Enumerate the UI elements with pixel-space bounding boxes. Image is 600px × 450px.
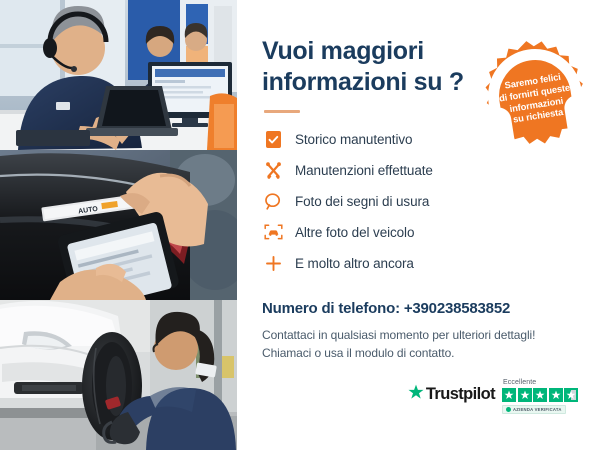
star-filled	[518, 388, 532, 402]
trustpilot-rating: Eccellente	[502, 379, 578, 414]
star-filled	[533, 388, 547, 402]
title-divider	[264, 110, 300, 113]
trustpilot-verified-badge: AZIENDA VERIFICATA	[502, 405, 566, 414]
car-frame-icon	[262, 221, 284, 243]
contact-line-2: Chiamaci o usa il modulo di contatto.	[262, 344, 580, 362]
feature-item-molto-altro: E molto altro ancora	[262, 249, 580, 277]
star-filled	[502, 388, 516, 402]
contact-line-1: Contattaci in qualsiasi momento per ulte…	[262, 326, 580, 344]
feature-label: Foto dei segni di usura	[295, 194, 429, 209]
page-title: Vuoi maggiori informazioni su ?	[262, 36, 477, 97]
trustpilot-stars	[502, 388, 578, 402]
star-half	[564, 388, 578, 402]
trustpilot-rating-label: Eccellente	[503, 379, 536, 386]
feature-label: E molto altro ancora	[295, 256, 414, 271]
contact-description: Contattaci in qualsiasi momento per ulte…	[262, 326, 580, 362]
phone-number[interactable]: Numero di telefono: +390238583852	[262, 300, 580, 317]
badge-content: Saremo felici di fornirti queste informa…	[469, 30, 600, 163]
feature-label: Manutenzioni effettuate	[295, 163, 433, 178]
call-center-agents-photo	[0, 0, 237, 150]
feature-label: Storico manutentivo	[295, 132, 412, 147]
trustpilot-star-icon	[408, 384, 424, 405]
content-panel: Vuoi maggiori informazioni su ? Storico …	[237, 0, 600, 450]
feature-item-altre-foto-veicolo: Altre foto del veicolo	[262, 218, 580, 246]
verified-check-icon	[506, 407, 511, 412]
checklist-icon	[262, 128, 284, 150]
paint-thickness-inspection-photo: AUTO	[0, 150, 237, 300]
star-filled	[549, 388, 563, 402]
callout-badge: Saremo felici di fornirti queste informa…	[469, 30, 600, 163]
feature-item-manutenzioni-effettuate: Manutenzioni effettuate	[262, 156, 580, 184]
feature-label: Altre foto del veicolo	[295, 225, 414, 240]
feature-item-foto-segni-usura: Foto dei segni di usura	[262, 187, 580, 215]
plus-icon	[262, 252, 284, 274]
trustpilot-widget[interactable]: Trustpilot Eccellente	[408, 379, 578, 414]
trustpilot-brand: Trustpilot	[408, 384, 495, 414]
magnifier-icon	[262, 190, 284, 212]
tools-icon	[262, 159, 284, 181]
photo-strip: AUTO	[0, 0, 237, 450]
trustpilot-wordmark: Trustpilot	[426, 385, 495, 404]
mechanic-wheel-inspection-photo	[0, 300, 237, 450]
verified-label: AZIENDA VERIFICATA	[513, 407, 562, 412]
promo-card: AUTO	[0, 0, 600, 450]
